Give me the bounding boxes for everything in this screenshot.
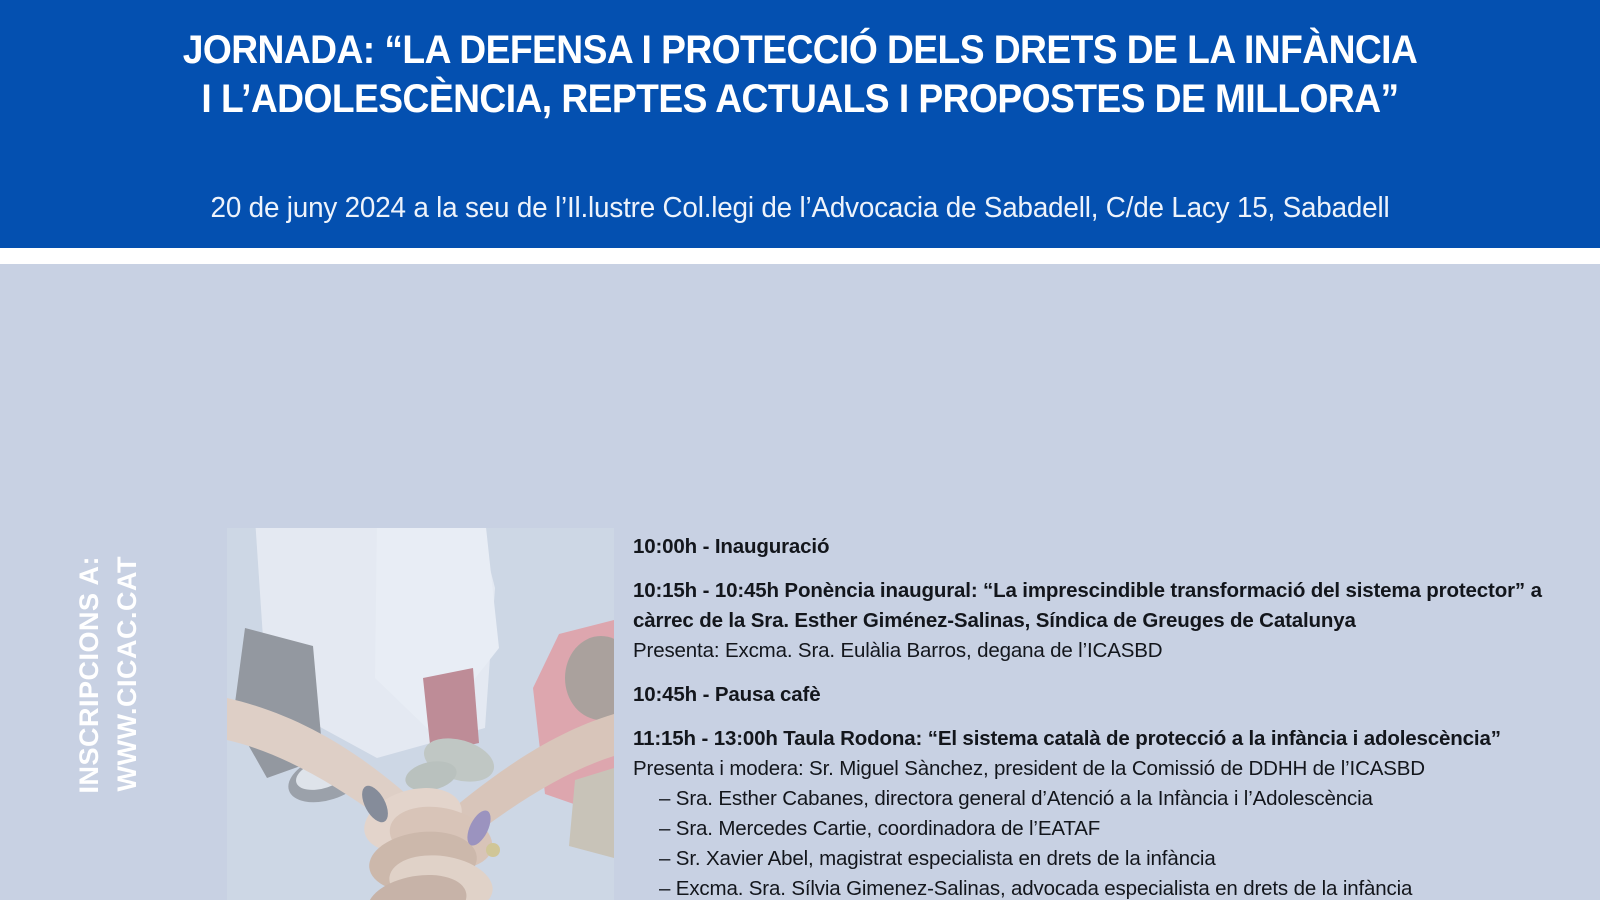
entry-speaker: – Sra. Mercedes Cartie, coordinadora de … — [633, 814, 1573, 844]
registration-sidebar: INSCRIPCIONS A: WWW.CICAC.CAT CONSELL DE… — [0, 528, 227, 900]
entry-heading: 11:15h - 13:00h Taula Rodona: “El sistem… — [633, 724, 1573, 754]
registration-label: INSCRIPCIONS A: — [74, 556, 105, 794]
entry-heading: 10:15h - 10:45h Ponència inaugural: “La … — [633, 576, 1573, 636]
entry-speaker: – Excma. Sra. Sílvia Gimenez-Salinas, ad… — [633, 874, 1573, 900]
entry-heading: 10:45h - Pausa cafè — [633, 680, 1573, 710]
poster-subtitle-date-venue: 20 de juny 2024 a la seu de l’Il.lustre … — [32, 192, 1568, 225]
event-poster: JORNADA: “LA DEFENSA I PROTECCIÓ DELS DR… — [0, 0, 1600, 900]
entry-detail: Presenta: Excma. Sra. Eulàlia Barros, de… — [633, 636, 1573, 666]
entry-detail: Presenta i modera: Sr. Miguel Sànchez, p… — [633, 754, 1573, 784]
poster-title: JORNADA: “LA DEFENSA I PROTECCIÓ DELS DR… — [56, 26, 1544, 124]
registration-url[interactable]: WWW.CICAC.CAT — [112, 556, 143, 791]
entry-heading: 10:00h - Inauguració — [633, 532, 1573, 562]
poster-body: INSCRIPCIONS A: WWW.CICAC.CAT CONSELL DE… — [0, 264, 1600, 900]
entry-speaker: – Sr. Xavier Abel, magistrat especialist… — [633, 844, 1573, 874]
program-entry-pausa-cafe: 10:45h - Pausa cafè — [633, 680, 1573, 710]
program-schedule: 10:00h - Inauguració 10:15h - 10:45h Pon… — [633, 532, 1573, 900]
poster-header: JORNADA: “LA DEFENSA I PROTECCIÓ DELS DR… — [0, 0, 1600, 248]
program-entry-ponencia-inaugural: 10:15h - 10:45h Ponència inaugural: “La … — [633, 576, 1573, 666]
vertical-registration-text: INSCRIPCIONS A: WWW.CICAC.CAT — [62, 556, 172, 900]
header-divider-band — [0, 248, 1600, 264]
entry-speaker: – Sra. Esther Cabanes, directora general… — [633, 784, 1573, 814]
program-entry-inauguracio: 10:00h - Inauguració — [633, 532, 1573, 562]
photo-illustration — [227, 528, 614, 900]
children-hands-together-photo — [227, 528, 614, 900]
program-entry-taula-rodona: 11:15h - 13:00h Taula Rodona: “El sistem… — [633, 724, 1573, 900]
